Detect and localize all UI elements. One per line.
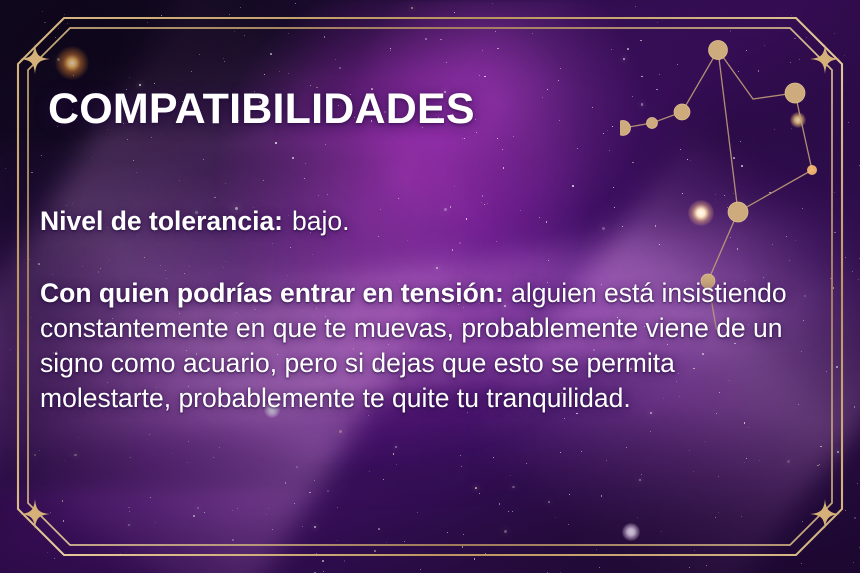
tolerance-line: Nivel de tolerancia:bajo. [40,204,818,239]
tolerance-value: bajo. [292,206,349,236]
tolerance-label: Nivel de tolerancia: [40,206,283,236]
card-content: COMPATIBILIDADES Nivel de tolerancia:baj… [40,88,818,416]
compatibility-card: COMPATIBILIDADES Nivel de tolerancia:baj… [0,0,860,573]
page-title: COMPATIBILIDADES [48,88,818,131]
tension-label: Con quien podrías entrar en tensión: [40,278,504,308]
tension-line: Con quien podrías entrar en tensión: alg… [40,276,810,416]
